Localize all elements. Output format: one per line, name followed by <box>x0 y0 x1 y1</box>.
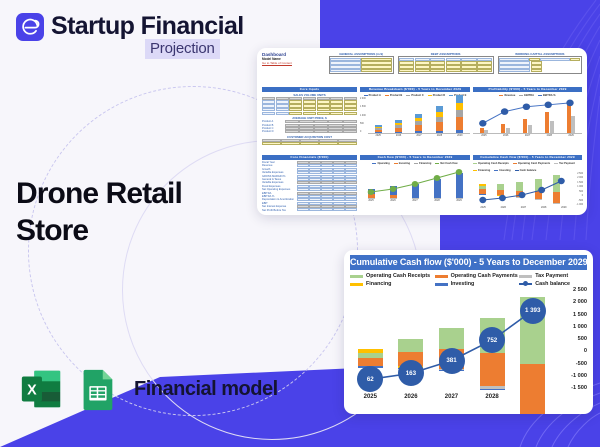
y-tick: -1 000 <box>555 373 587 379</box>
mini-xtick: 2028 <box>434 199 439 202</box>
mini-xtick: 2025 <box>376 134 381 137</box>
legend-item-operating-cash-payments: Operating Cash Payments <box>435 273 520 279</box>
legend-item-operating-cash-receipts: Operating Cash Receipts <box>350 273 435 279</box>
y-tick: 2 500 <box>555 287 587 293</box>
legend-operating: Operating <box>372 162 389 165</box>
mini-xtick: 2025 <box>481 134 486 137</box>
chart-plot-area: 62 163 381 752 1 393 <box>350 293 553 391</box>
mini-xtick: 2029 <box>457 134 462 137</box>
y-tick: 500 <box>555 336 587 342</box>
y-tick: -500 <box>555 361 587 367</box>
legend-product-b: Product B <box>385 94 402 97</box>
svg-text:X: X <box>27 382 37 398</box>
y-tick: 0 <box>555 348 587 354</box>
dashboard-toc-link[interactable]: Go to Table of Content <box>262 61 325 65</box>
format-badges: X Financial model <box>18 366 278 412</box>
band-profitability: Profitability ($'000) - 5 Years to Decem… <box>473 87 582 92</box>
mini-legend-revenue: Product A Product B Product C Product D … <box>360 94 470 97</box>
mini-xtick: 2026 <box>503 134 508 137</box>
mini-bar <box>415 114 422 134</box>
poster-root: Startup Financial Projection Drone Retai… <box>0 0 600 447</box>
mini-xtick: 2028 <box>437 134 442 137</box>
mini-chart-cumulative-cash-flow: Operating Cash Receipts Operating Cash P… <box>473 161 582 215</box>
product-label-d: Product D <box>262 130 284 133</box>
data-label-2025: 62 <box>357 366 383 392</box>
legend-label: Operating Cash Receipts <box>366 273 430 279</box>
legend-label: Tax Payment <box>535 273 568 279</box>
mini-chart-cash-flow: Operating Investing Financing Net Cash f… <box>360 161 470 215</box>
mini-xtick: 2027 <box>416 134 421 137</box>
data-label-2026: 163 <box>398 360 424 386</box>
band-core-inputs: Core Inputs <box>262 87 357 92</box>
legend-item-tax-payment: Tax Payment <box>519 273 587 279</box>
mini-xtick: 2025 <box>368 199 373 202</box>
mini-legend-profitability: Revenue EBITDA EBITDA % <box>473 94 582 97</box>
brand-title: Startup Financial <box>51 12 244 41</box>
chart-y-axis: 2 500 2 000 1 500 1 000 500 0 -500 -1 00… <box>555 287 587 391</box>
chart-title: Cumulative Cash flow ($'000) - 5 Years t… <box>350 255 587 270</box>
mini-bar <box>456 95 463 133</box>
x-tick-2028: 2028 <box>480 394 505 400</box>
legend-product-d: Product D <box>428 94 445 97</box>
page-headline: Drone Retail Store <box>16 176 246 249</box>
data-label-2027: 381 <box>439 348 465 374</box>
spiral-e-logo-icon <box>16 13 44 41</box>
legend-label: Operating Cash Payments <box>451 273 518 279</box>
y-tick: 1 500 <box>555 312 587 318</box>
y-tick: -1 500 <box>555 385 587 391</box>
core-financials-table: Fiscal Year Revenue Growth Variable Expe… <box>262 161 357 215</box>
x-tick-2026: 2026 <box>398 394 423 400</box>
legend-item-investing: Investing <box>435 281 520 287</box>
cumulative-cash-flow-chart-card[interactable]: Cumulative Cash flow ($'000) - 5 Years t… <box>344 250 593 414</box>
band-cash-flow: Cash flow ($'000) - 5 Years to December … <box>360 155 470 160</box>
brand-subtitle-badge: Projection <box>145 39 220 59</box>
legend-net-cash-flow: Net Cash flow <box>435 162 457 165</box>
x-tick-2025: 2025 <box>358 394 383 400</box>
mini-xtick: 2026 <box>396 134 401 137</box>
dashboard-preview-card[interactable]: Dashboard Model Name Go to Table of Cont… <box>257 48 587 215</box>
legend-op-payments: Operating Cash Payments <box>513 162 550 165</box>
mini-legend-cumulative: Operating Cash Receipts Operating Cash P… <box>473 162 582 172</box>
legend-cash-balance: Cash balance <box>515 169 537 172</box>
brand-subtitle-wrap: Projection <box>145 39 220 59</box>
legend-op-receipts: Operating Cash Receipts <box>473 162 509 165</box>
mini-bar <box>375 125 382 133</box>
y-tick: 2 000 <box>555 299 587 305</box>
mini-xtick: 2029 <box>561 206 566 209</box>
mini-chart-profitability: Revenue EBITDA EBITDA % <box>473 93 582 154</box>
mini-chart-revenue-breakdown: Product A Product B Product C Product D … <box>360 93 470 154</box>
legend-tax-payment: Tax Payment <box>554 162 575 165</box>
band-core-financials: Core Financials ($'000) <box>262 155 357 160</box>
legend-revenue: Revenue <box>499 94 515 97</box>
mini-xtick: 2027 <box>521 206 526 209</box>
microsoft-excel-icon: X <box>18 366 64 412</box>
legend-investing: Investing <box>494 169 510 172</box>
mini-xtick: 2027 <box>412 199 417 202</box>
chart-plot: 62 163 381 752 1 393 2 500 2 000 1 500 1… <box>350 293 587 391</box>
mini-bar <box>436 106 443 133</box>
mini-xtick: 2025 <box>480 206 485 209</box>
legend-ebitda: EBITDA <box>519 94 534 97</box>
google-sheets-icon <box>74 366 120 412</box>
legend-ebitda-pct: EBITDA % <box>538 94 556 97</box>
mini-xtick: 2026 <box>390 199 395 202</box>
x-tick-2027: 2027 <box>439 394 464 400</box>
mini-xtick: 2026 <box>501 206 506 209</box>
band-cumulative-cash-flow: Cumulative Cash flow ($'000) - 5 Years t… <box>473 155 582 160</box>
legend-product-a: Product A <box>364 94 381 97</box>
legend-label: Investing <box>451 281 475 287</box>
fin-row-label: Net Profit Before Tax <box>262 209 296 212</box>
y-tick: 1 000 <box>555 324 587 330</box>
format-badges-label: Financial model <box>134 378 278 401</box>
chart-legend: Operating Cash Receipts Operating Cash P… <box>350 273 587 287</box>
chart-x-axis: 2025 2026 2027 2028 2029 <box>350 394 587 400</box>
band-revenue-breakdown: Revenue Breakdown ($'000) - 5 Years to D… <box>360 87 470 92</box>
mini-xtick: 2027 <box>525 134 530 137</box>
legend-label: Financing <box>366 281 391 287</box>
brand-header: Startup Financial <box>16 12 244 41</box>
data-label-2029: 1 393 <box>520 298 546 324</box>
mini-legend-cash-flow: Operating Investing Financing Net Cash f… <box>360 162 470 165</box>
legend-product-c: Product C <box>406 94 423 97</box>
mini-xtick: 2028 <box>547 134 552 137</box>
mini-xtick: 2029 <box>568 134 573 137</box>
mini-xtick: 2028 <box>541 206 546 209</box>
mini-xtick: 2029 <box>456 199 461 202</box>
data-label-2028: 752 <box>479 327 505 353</box>
legend-financing: Financing <box>473 169 490 172</box>
legend-item-financing: Financing <box>350 281 435 287</box>
mini-bar <box>395 120 402 133</box>
legend-financing: Financing <box>414 162 431 165</box>
legend-investing: Investing <box>394 162 410 165</box>
